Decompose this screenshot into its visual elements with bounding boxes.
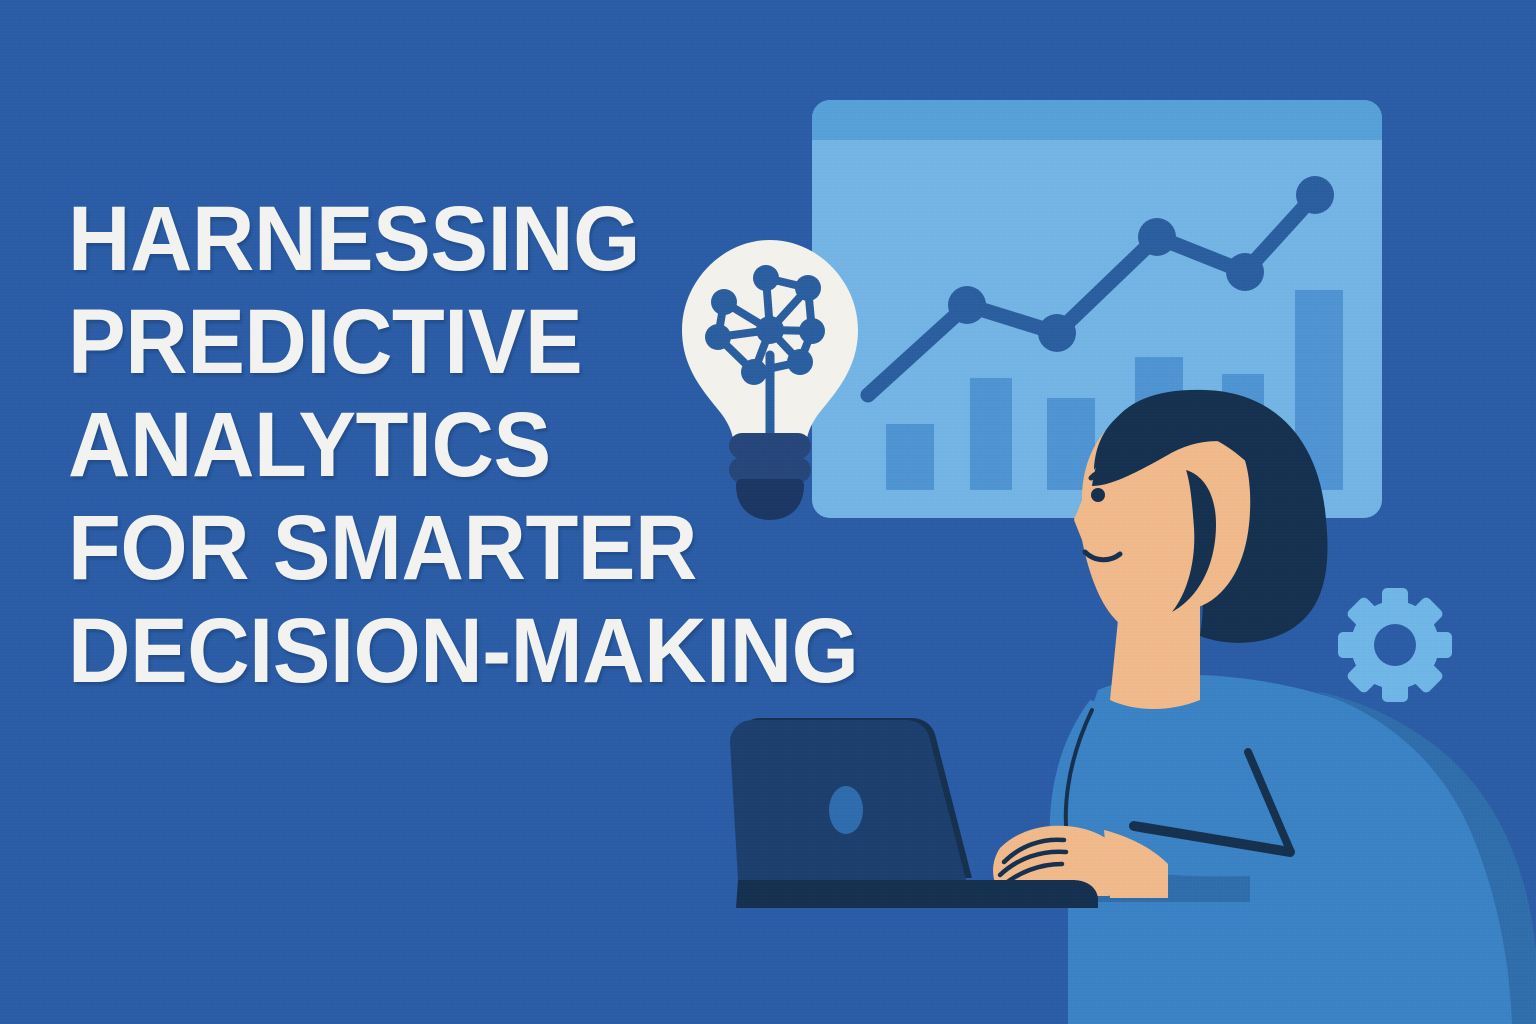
panel-header-bar [812, 100, 1382, 140]
title-line-2: PREDICTIVE [68, 291, 848, 394]
poster-canvas: HARNESSING PREDICTIVE ANALYTICS FOR SMAR… [0, 0, 1536, 1024]
title-line-1: HARNESSING [68, 188, 848, 291]
title-line-3: ANALYTICS [68, 394, 848, 497]
bar-2 [970, 378, 1012, 490]
data-point-5 [1296, 176, 1334, 214]
title-line-4: FOR SMARTER [68, 497, 848, 600]
title-line-5: DECISION-MAKING [68, 600, 848, 703]
data-point-2 [1038, 314, 1076, 352]
eye [1091, 488, 1105, 502]
data-point-1 [948, 286, 986, 324]
data-point-4 [1226, 253, 1264, 291]
data-point-3 [1138, 218, 1176, 256]
laptop-keyboard-deck [736, 880, 1098, 908]
page-title: HARNESSING PREDICTIVE ANALYTICS FOR SMAR… [68, 188, 898, 703]
laptop-logo-icon [829, 786, 863, 834]
